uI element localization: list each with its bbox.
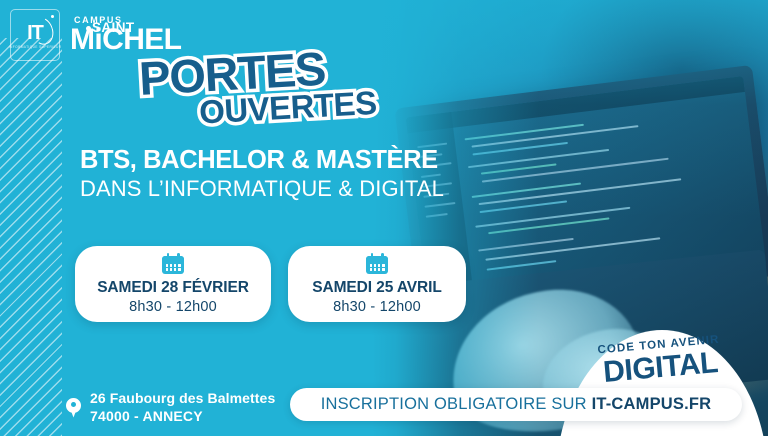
registration-cta-text: INSCRIPTION OBLIGATOIRE SUR IT-CAMPUS.FR (321, 395, 712, 414)
saint-label: SAINT (92, 21, 135, 35)
address-street: 26 Faubourg des Balmettes (90, 390, 275, 408)
address-lines: 26 Faubourg des Balmettes 74000 - ANNECY (90, 390, 275, 425)
calendar-icon (366, 253, 388, 274)
it-dot-icon (51, 15, 54, 18)
cta-site: IT-CAMPUS.FR (592, 395, 712, 413)
campus-saint-michel-wordmark: CAMPUS MiCHEL SAINT (70, 16, 181, 54)
portes-ouvertes-poster: IT INFORMATIQUE SUPERIEUR CAMPUS MiCHEL … (0, 0, 768, 436)
date-card-day: SAMEDI 28 FÉVRIER (97, 279, 249, 297)
calendar-icon (162, 253, 184, 274)
it-logo-tagline: INFORMATIQUE SUPERIEUR (9, 46, 62, 50)
subtitle: BTS, BACHELOR & MASTÈRE DANS L’INFORMATI… (80, 146, 444, 201)
it-logo-mark: IT INFORMATIQUE SUPERIEUR (10, 9, 60, 61)
address-block: 26 Faubourg des Balmettes 74000 - ANNECY (66, 390, 275, 425)
address-city: 74000 - ANNECY (90, 408, 275, 426)
subtitle-line-2: DANS L’INFORMATIQUE & DIGITAL (80, 176, 444, 201)
date-card[interactable]: SAMEDI 25 AVRIL 8h30 - 12h00 (288, 246, 466, 322)
diagonal-stripe-pattern (0, 38, 62, 436)
registration-cta-bar[interactable]: INSCRIPTION OBLIGATOIRE SUR IT-CAMPUS.FR (290, 388, 742, 421)
date-card-time: 8h30 - 12h00 (333, 299, 421, 315)
location-pin-icon (66, 398, 81, 418)
subtitle-line-1: BTS, BACHELOR & MASTÈRE (80, 146, 444, 174)
date-card-day: SAMEDI 25 AVRIL (312, 279, 441, 297)
date-card-time: 8h30 - 12h00 (129, 299, 217, 315)
date-card[interactable]: SAMEDI 28 FÉVRIER 8h30 - 12h00 (75, 246, 271, 322)
cta-prefix: INSCRIPTION OBLIGATOIRE SUR (321, 395, 592, 413)
